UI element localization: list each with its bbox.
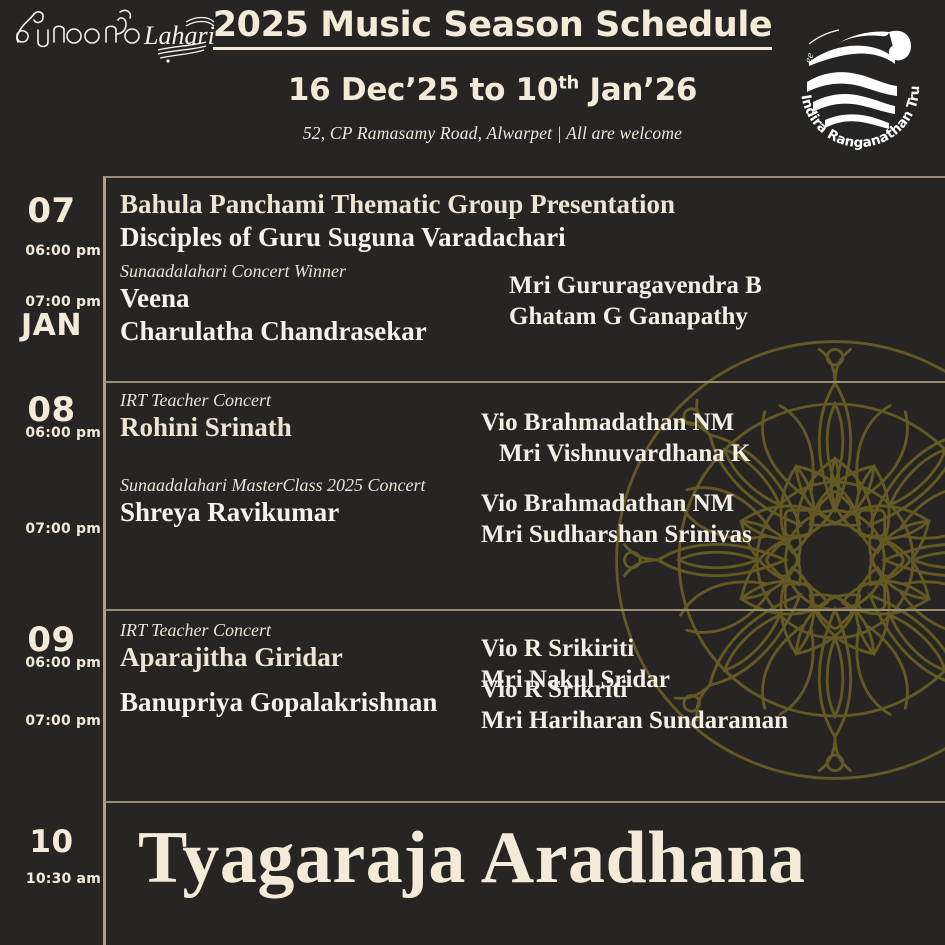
time-label: 07:00 pm (25, 521, 101, 537)
svg-text:ee: ee (802, 51, 816, 64)
accompanist: Mri Hariharan Sundaraman (481, 705, 788, 736)
day-rail: 10 10:30 am (0, 801, 103, 945)
date-range-pre: 16 Dec’25 to 10 (288, 72, 558, 108)
time-label: 06:00 pm (25, 243, 101, 259)
event-block: Sunaadalahari MasterClass 2025 Concert S… (106, 444, 945, 529)
sunaadalahari-wordmark-icon: Lahari (8, 4, 218, 64)
date-range-ordinal: th (558, 73, 579, 94)
event-title: Tyagaraja Aradhana (106, 803, 945, 895)
day-number: 09 (0, 623, 103, 657)
accompanists: Vio Brahmadathan NM Mri Sudharshan Srini… (481, 488, 752, 551)
accompanist: Mri Gururagavendra B (509, 270, 762, 301)
season-schedule-poster: Lahari 2025 Music Season Schedule 16 Dec… (0, 0, 945, 945)
day-row: 09 06:00 pm 07:00 pm IRT Teacher Concert… (0, 609, 945, 801)
event-block: Bahula Panchami Thematic Group Presentat… (106, 178, 945, 254)
accompanist: Vio Brahmadathan NM (481, 407, 750, 438)
venue-line: 52, CP Ramasamy Road, Alwarpet | All are… (205, 123, 780, 144)
accompanists: Mri Gururagavendra B Ghatam G Ganapathy (509, 270, 762, 333)
event-subtitle: Disciples of Guru Suguna Varadachari (120, 221, 945, 254)
day-row: 08 06:00 pm 07:00 pm IRT Teacher Concert… (0, 381, 945, 609)
page-title: 2025 Music Season Schedule (213, 6, 773, 50)
day-number: 08 (0, 393, 103, 427)
date-range-post: Jan’26 (579, 72, 697, 108)
header-text-block: 2025 Music Season Schedule 16 Dec’25 to … (205, 6, 780, 144)
accompanist: Vio Brahmadathan NM (481, 488, 752, 519)
month-label: JAN (0, 308, 103, 343)
day-panel: IRT Teacher Concert Aparajitha Giridar V… (103, 609, 945, 801)
event-block: Banupriya Gopalakrishnan Vio R Srikriti … (106, 674, 945, 719)
time-label: 06:00 pm (25, 655, 101, 671)
indira-ranganathan-trust-seal-icon: Indira Ranganathan Trust ee (785, 4, 935, 154)
day-panel: Bahula Panchami Thematic Group Presentat… (103, 176, 945, 381)
schedule-body: JAN 07 06:00 pm 07:00 pm Bahula Panchami… (0, 176, 945, 945)
accompanist: Ghatam G Ganapathy (509, 301, 762, 332)
accompanist: Vio R Srikiriti (481, 633, 670, 664)
day-number: 10 (0, 827, 103, 858)
day-number: 07 (0, 194, 103, 228)
accompanist: Mri Sudharshan Srinivas (481, 519, 752, 550)
event-block: IRT Teacher Concert Rohini Srinath Vio B… (106, 383, 945, 444)
day-rail: 08 06:00 pm 07:00 pm (0, 381, 103, 609)
day-rail: 07 06:00 pm 07:00 pm (0, 176, 103, 381)
time-label: 06:00 pm (25, 425, 101, 441)
event-block: IRT Teacher Concert Aparajitha Giridar V… (106, 611, 945, 674)
day-row: 10 10:30 am Tyagaraja Aradhana (0, 801, 945, 945)
event-title: Bahula Panchami Thematic Group Presentat… (120, 188, 945, 221)
day-panel: IRT Teacher Concert Rohini Srinath Vio B… (103, 381, 945, 609)
accompanists: Vio R Srikriti Mri Hariharan Sundaraman (481, 674, 788, 737)
time-label: 07:00 pm (25, 713, 101, 729)
date-range: 16 Dec’25 to 10th Jan’26 (205, 72, 780, 108)
accompanist: Vio R Srikriti (481, 674, 788, 705)
event-block: Sunaadalahari Concert Winner Veena Charu… (106, 254, 945, 348)
poster-header: Lahari 2025 Music Season Schedule 16 Dec… (0, 0, 945, 176)
day-panel: Tyagaraja Aradhana (103, 801, 945, 945)
day-rail: 09 06:00 pm 07:00 pm (0, 609, 103, 801)
day-row: 07 06:00 pm 07:00 pm Bahula Panchami The… (0, 176, 945, 381)
time-label: 10:30 am (26, 871, 101, 887)
